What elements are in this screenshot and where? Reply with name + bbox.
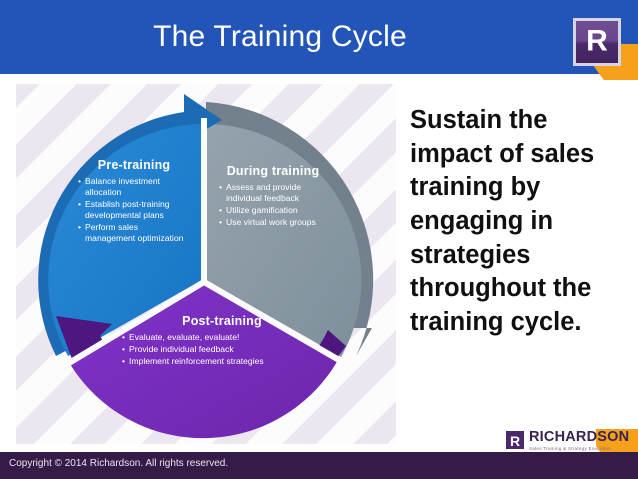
bullet-item: Utilize gamification (219, 205, 327, 216)
bullet-item: Balance investment allocation (78, 176, 190, 198)
segment-bullets: Balance investment allocation Establish … (78, 176, 190, 244)
page-title: The Training Cycle (0, 20, 560, 54)
segment-bullets: Assess and provide individual feedback U… (219, 182, 327, 228)
bullet-item: Assess and provide individual feedback (219, 182, 327, 204)
brand-tagline: Sales Training & Strategy Execution (529, 445, 629, 452)
brand-name: RICHARDSON (529, 430, 629, 445)
segment-title: Post-training (122, 314, 322, 328)
segment-bullets: Evaluate, evaluate, evaluate! Provide in… (122, 332, 322, 367)
segment-title: During training (219, 164, 327, 178)
copyright-text: Copyright © 2014 Richardson. All rights … (9, 458, 228, 469)
segment-title: Pre-training (78, 158, 190, 172)
cycle-svg (16, 84, 396, 444)
slide: The Training Cycle (0, 0, 638, 479)
bullet-item: Evaluate, evaluate, evaluate! (122, 332, 322, 343)
segment-pre-training: Pre-training Balance investment allocati… (78, 158, 190, 245)
bullet-item: Provide individual feedback (122, 344, 322, 355)
training-cycle-diagram: Pre-training Balance investment allocati… (16, 84, 396, 444)
brand-logo: R RICHARDSON Sales Training & Strategy E… (505, 430, 629, 452)
segment-post-training: Post-training Evaluate, evaluate, evalua… (122, 314, 322, 368)
brand-wordmark: RICHARDSON Sales Training & Strategy Exe… (529, 430, 629, 452)
header-logo-mark (576, 21, 618, 63)
bullet-item: Implement reinforcement strategies (122, 356, 322, 367)
segment-during-training: During training Assess and provide indiv… (219, 164, 327, 229)
bullet-item: Use virtual work groups (219, 217, 327, 228)
header-logo (573, 18, 621, 66)
bullet-item: Perform sales management optimization (78, 222, 190, 244)
headline-text: Sustain the impact of sales training by … (410, 104, 615, 340)
bullet-item: Establish post-training developmental pl… (78, 199, 190, 221)
brand-mark-icon: R (505, 430, 525, 450)
